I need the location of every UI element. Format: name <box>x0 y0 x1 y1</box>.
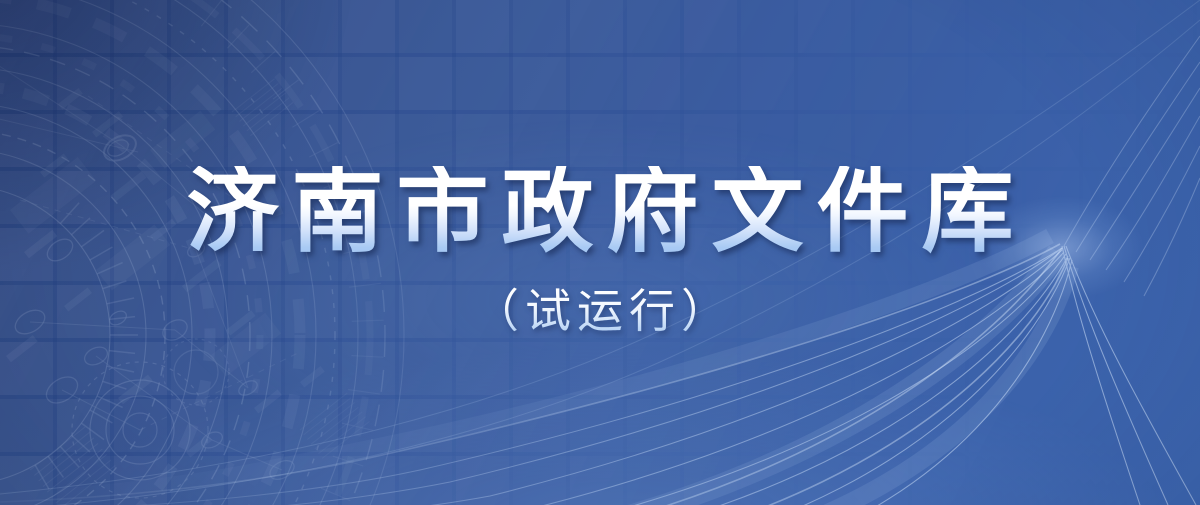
government-document-library-banner: 济南市政府文件库 （试运行） <box>0 0 1200 505</box>
banner-text-block: 济南市政府文件库 （试运行） <box>0 0 1200 505</box>
page-subtitle: （试运行） <box>467 286 733 337</box>
page-title: 济南市政府文件库 <box>173 166 1026 260</box>
